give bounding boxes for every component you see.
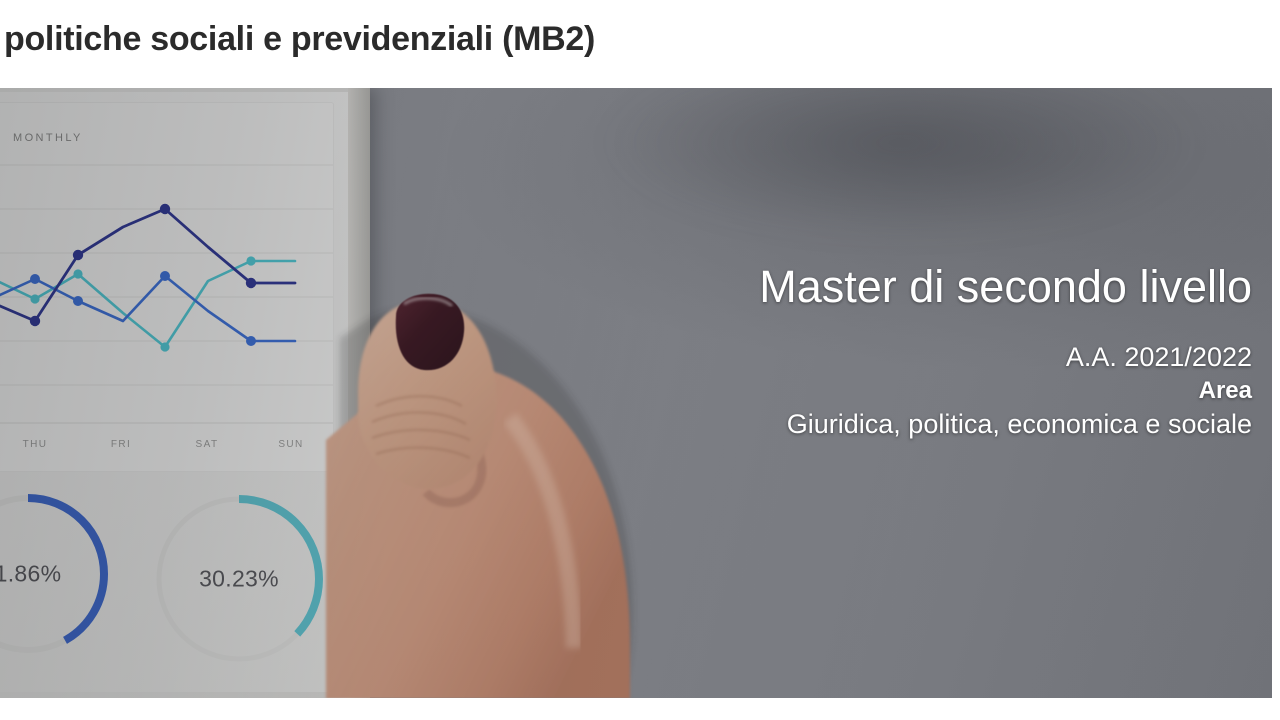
overlay-text-block: Master di secondo livello A.A. 2021/2022… [492,260,1252,441]
tablet-screen: MONTHLY [0,92,348,692]
area-label: Area [492,375,1252,406]
chart-x-axis: THU FRI SAT SUN [0,439,333,463]
area-value: Giuridica, politica, economica e sociale [492,407,1252,441]
slide-root: politiche sociali e previdenziali (MB2) … [0,0,1280,720]
monthly-line-chart: MONTHLY [0,102,334,472]
gauge-left: 1.86% [0,484,118,664]
chart-plot-area [0,151,333,431]
chart-gridlines [0,165,333,423]
gauge-left-value: 1.86% [0,561,118,588]
axis-tick-thu: THU [23,439,48,450]
axis-tick-sat: SAT [196,439,219,450]
master-level-text: Master di secondo livello [492,260,1252,314]
chart-title: MONTHLY [13,132,83,144]
page-title: politiche sociali e previdenziali (MB2) [4,18,1004,60]
gauge-row: 1.86% 30.23% [0,484,348,692]
axis-tick-fri: FRI [111,439,131,450]
hero-photo: MONTHLY [0,88,1272,698]
academic-year-text: A.A. 2021/2022 [492,340,1252,374]
